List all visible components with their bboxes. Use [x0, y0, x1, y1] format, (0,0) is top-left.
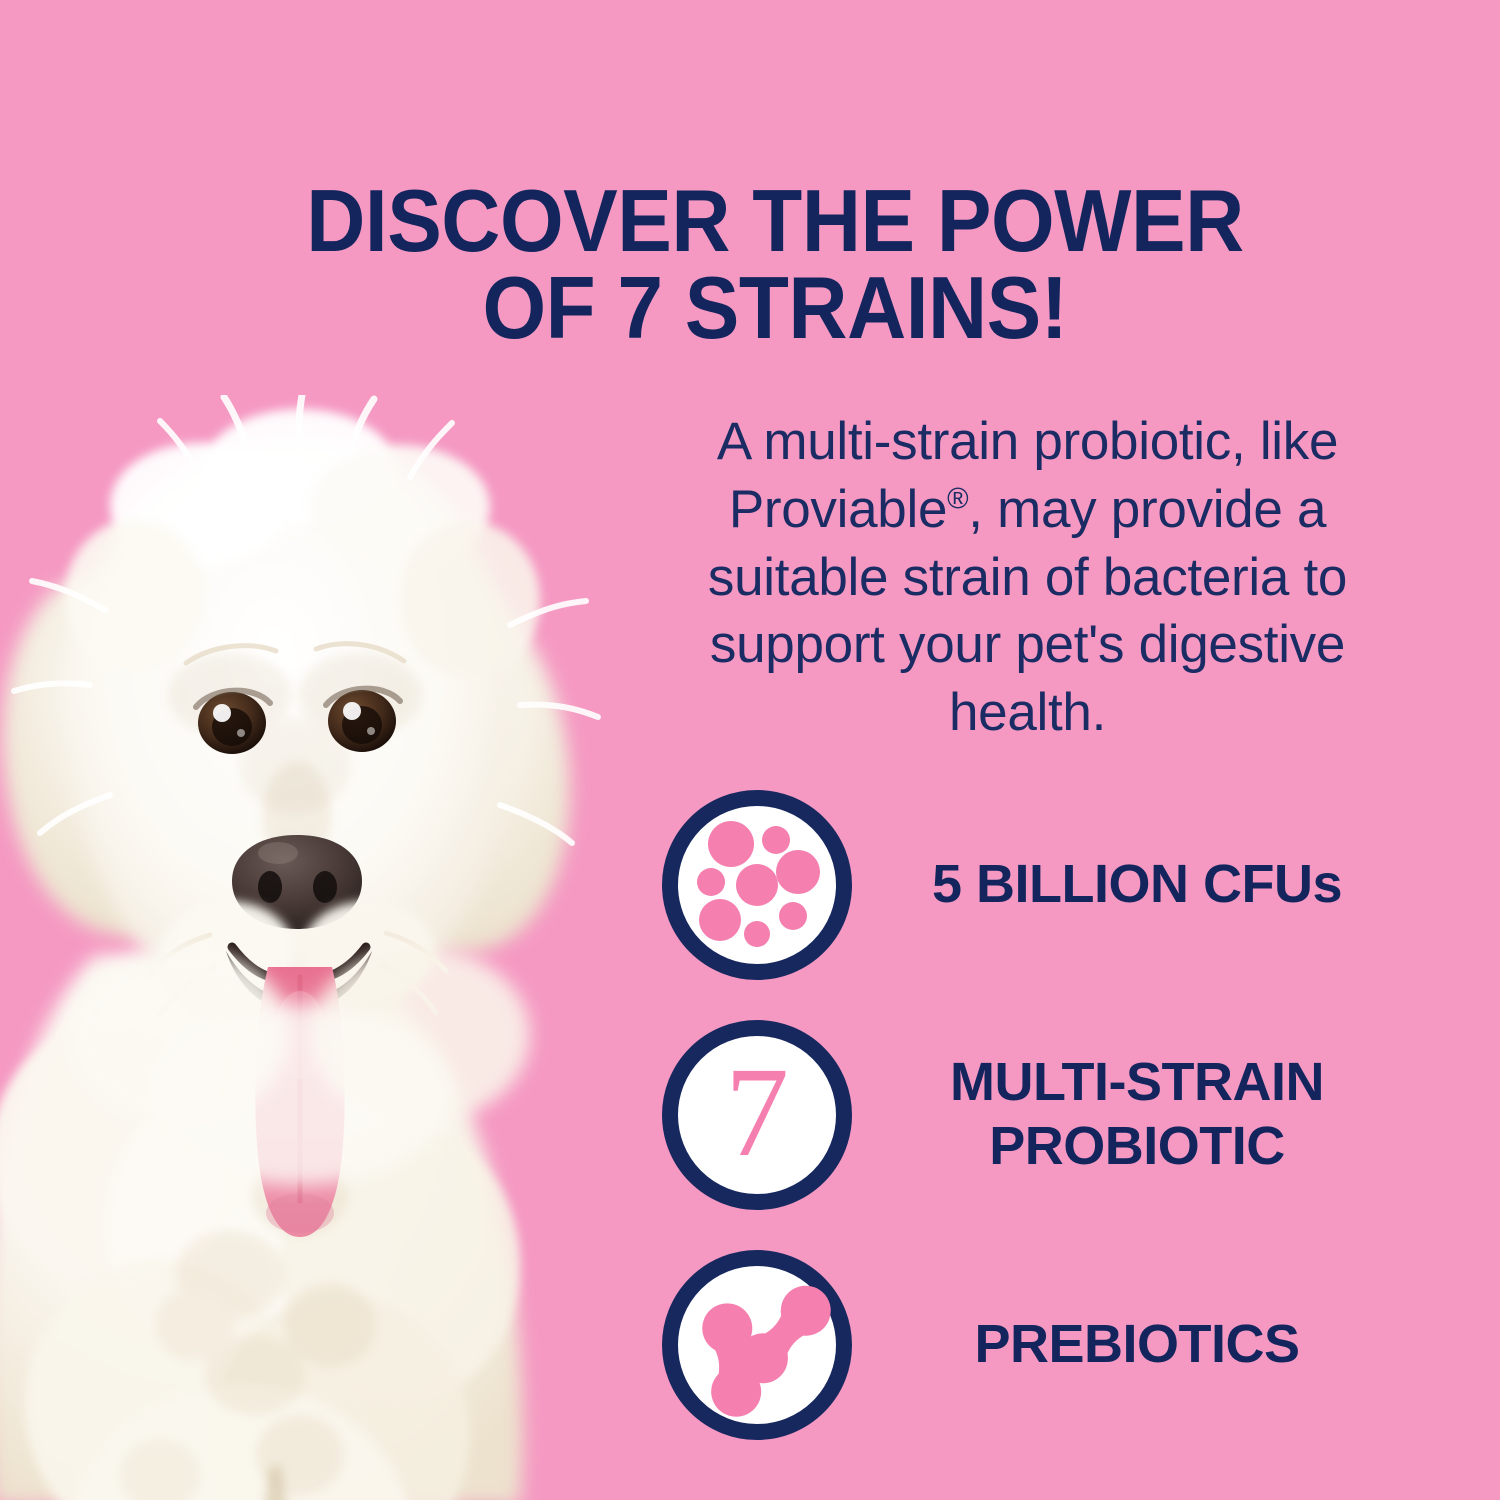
- feature-list: 5 BILLION CFUs 7 MULTI-STRAIN PROBIOTIC: [662, 790, 1462, 1440]
- registered-trademark-icon: ®: [947, 483, 968, 515]
- headline-line-1: DISCOVER THE POWER: [175, 177, 1375, 264]
- feature-item-multistrain: 7 MULTI-STRAIN PROBIOTIC: [662, 1020, 1462, 1210]
- feature-label-multistrain: MULTI-STRAIN PROBIOTIC: [892, 1051, 1462, 1178]
- dog-photo: [0, 395, 620, 1500]
- bacteria-colony-icon: [662, 790, 852, 980]
- headline-line-2: OF 7 STRAINS!: [175, 264, 1375, 351]
- strain-count-number: 7: [678, 1036, 836, 1194]
- feature-label-cfus: 5 BILLION CFUs: [892, 853, 1462, 917]
- feature-label-line-1: MULTI-STRAIN: [892, 1051, 1382, 1115]
- feature-item-prebiotics: PREBIOTICS: [662, 1250, 1462, 1440]
- feature-label-line-1: 5 BILLION CFUs: [892, 853, 1382, 917]
- feature-label-line-2: PROBIOTIC: [892, 1115, 1382, 1179]
- feature-label-prebiotics: PREBIOTICS: [892, 1313, 1462, 1377]
- body-paragraph: A multi-strain probiotic, like Proviable…: [655, 408, 1400, 747]
- page-title: DISCOVER THE POWER OF 7 STRAINS!: [175, 177, 1375, 351]
- feature-label-line-1: PREBIOTICS: [892, 1313, 1382, 1377]
- feature-item-cfus: 5 BILLION CFUs: [662, 790, 1462, 980]
- promotional-banner: DISCOVER THE POWER OF 7 STRAINS! A multi…: [0, 0, 1500, 1500]
- prebiotic-molecule-icon: [662, 1250, 852, 1440]
- number-seven-icon: 7: [662, 1020, 852, 1210]
